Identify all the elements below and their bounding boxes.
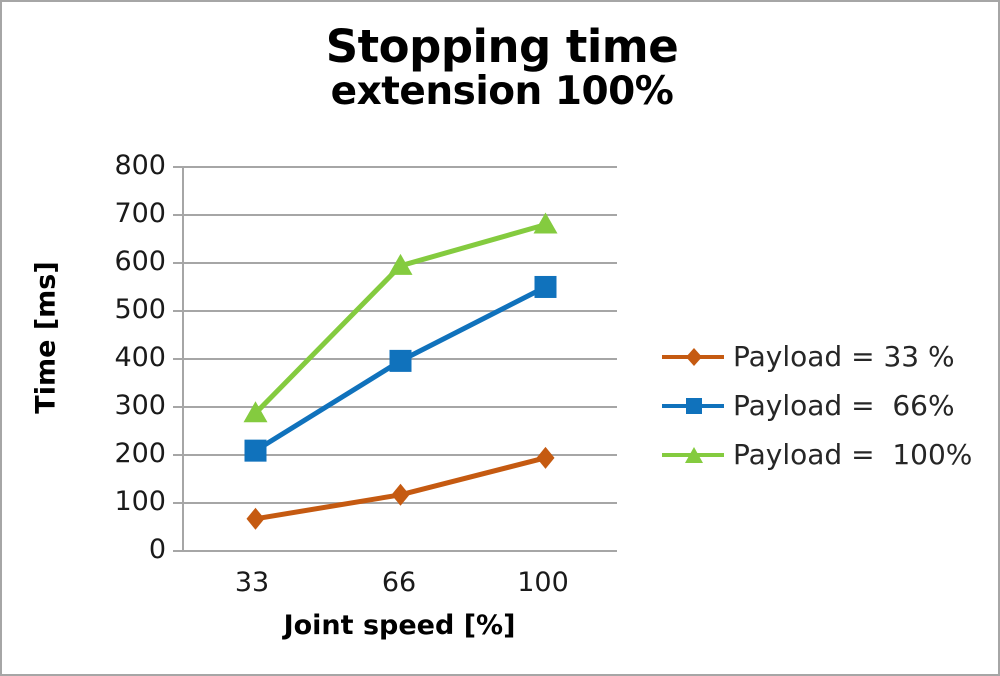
legend-item-payload-66[interactable]: Payload = 66%: [662, 381, 992, 430]
x-tick-label-66: 66: [339, 567, 459, 598]
x-tick-label-100: 100: [483, 567, 603, 598]
gridline-500: [182, 310, 617, 312]
gridline-700: [182, 214, 617, 216]
chart-title-line-2: extension 100%: [152, 72, 852, 112]
y-tick-label-200: 200: [96, 438, 166, 469]
gridline-0: [182, 550, 617, 552]
plot-area: [182, 166, 617, 550]
y-tick-mark-800: [173, 166, 182, 168]
gridline-100: [182, 502, 617, 504]
y-axis-title: Time [ms]: [31, 258, 62, 418]
y-tick-mark-0: [173, 550, 182, 552]
gridline-600: [182, 262, 617, 264]
y-tick-mark-100: [173, 502, 182, 504]
y-tick-label-700: 700: [96, 198, 166, 229]
chart-figure: Stopping time extension 100% 800 700 600…: [0, 0, 1000, 676]
chart-title: Stopping time extension 100%: [152, 24, 852, 112]
diamond-icon: [662, 346, 724, 368]
legend-item-payload-100[interactable]: Payload = 100%: [662, 430, 992, 479]
y-tick-mark-300: [173, 406, 182, 408]
y-tick-mark-400: [173, 358, 182, 360]
y-tick-label-300: 300: [96, 390, 166, 421]
y-axis-line: [182, 166, 184, 552]
y-tick-mark-500: [173, 310, 182, 312]
legend-label-payload-33: Payload = 33 %: [733, 340, 955, 373]
legend-label-payload-66: Payload = 66%: [733, 389, 955, 422]
legend: Payload = 33 % Payload = 66% Payload = 1…: [662, 332, 992, 479]
legend-label-payload-100: Payload = 100%: [733, 438, 972, 471]
x-axis-title: Joint speed [%]: [182, 610, 617, 641]
y-tick-label-400: 400: [96, 342, 166, 373]
gridline-800: [182, 166, 617, 168]
y-tick-mark-600: [173, 262, 182, 264]
y-axis-tick-labels: 800 700 600 500 400 300 200 100 0: [94, 2, 166, 676]
y-tick-label-600: 600: [96, 246, 166, 277]
y-tick-label-0: 0: [96, 534, 166, 565]
gridline-300: [182, 406, 617, 408]
y-tick-label-100: 100: [96, 486, 166, 517]
y-tick-mark-200: [173, 454, 182, 456]
x-tick-label-33: 33: [192, 567, 312, 598]
triangle-icon: [662, 444, 724, 466]
gridline-200: [182, 454, 617, 456]
y-tick-label-800: 800: [96, 150, 166, 181]
square-icon: [662, 395, 724, 417]
y-tick-mark-700: [173, 214, 182, 216]
gridline-400: [182, 358, 617, 360]
y-tick-label-500: 500: [96, 294, 166, 325]
legend-item-payload-33[interactable]: Payload = 33 %: [662, 332, 992, 381]
chart-title-line-1: Stopping time: [152, 24, 852, 70]
